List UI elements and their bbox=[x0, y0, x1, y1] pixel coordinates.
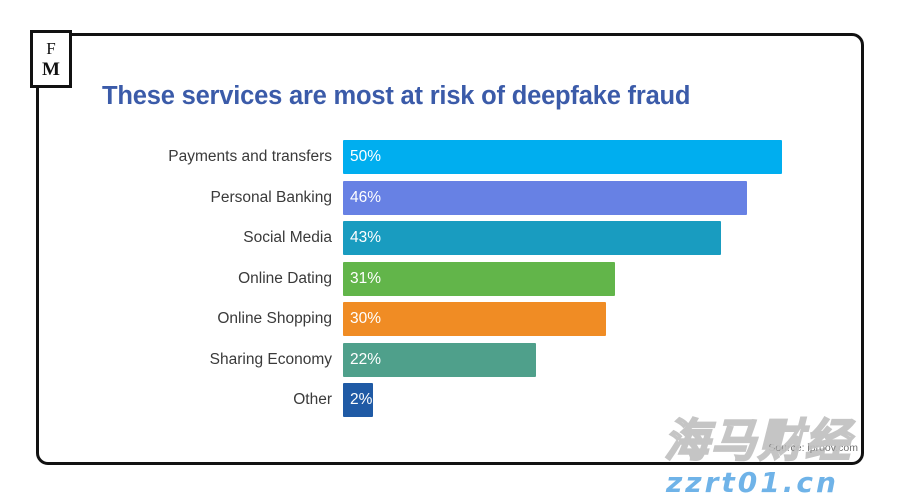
bar-row: Other2% bbox=[102, 383, 802, 417]
bar-category-label: Online Dating bbox=[102, 262, 332, 296]
bar-value-label: 22% bbox=[343, 352, 381, 368]
bar-value-label: 43% bbox=[343, 230, 381, 246]
bar-value-label: 2% bbox=[343, 392, 372, 408]
bar-track: 22% bbox=[343, 343, 536, 377]
bar[interactable]: 22% bbox=[343, 343, 536, 377]
bar-category-label: Personal Banking bbox=[102, 181, 332, 215]
bar-category-label: Online Shopping bbox=[102, 302, 332, 336]
bar[interactable]: 30% bbox=[343, 302, 606, 336]
bar-category-label: Social Media bbox=[102, 221, 332, 255]
bar-track: 31% bbox=[343, 262, 615, 296]
bar-row: Social Media43% bbox=[102, 221, 802, 255]
bar[interactable]: 31% bbox=[343, 262, 615, 296]
bar-category-label: Sharing Economy bbox=[102, 343, 332, 377]
bar-category-label: Payments and transfers bbox=[102, 140, 332, 174]
bar-row: Online Shopping30% bbox=[102, 302, 802, 336]
logo-letter-m: M bbox=[42, 60, 60, 79]
bar[interactable]: 43% bbox=[343, 221, 721, 255]
bar-value-label: 31% bbox=[343, 271, 381, 287]
bar-track: 30% bbox=[343, 302, 606, 336]
bar-value-label: 46% bbox=[343, 190, 381, 206]
bar-track: 50% bbox=[343, 140, 782, 174]
page-title: These services are most at risk of deepf… bbox=[102, 82, 690, 111]
bar-track: 46% bbox=[343, 181, 747, 215]
bar[interactable]: 46% bbox=[343, 181, 747, 215]
bar-category-label: Other bbox=[102, 383, 332, 417]
finance-magnates-logo: F M bbox=[30, 30, 72, 88]
bar-value-label: 50% bbox=[343, 149, 381, 165]
bar-row: Online Dating31% bbox=[102, 262, 802, 296]
logo-letter-f: F bbox=[46, 40, 55, 57]
source-attribution: Source: iproov.com bbox=[768, 442, 858, 454]
watermark-url: zzrt01.cn bbox=[666, 466, 839, 499]
bar-chart: Payments and transfers50%Personal Bankin… bbox=[102, 140, 802, 440]
bar-row: Sharing Economy22% bbox=[102, 343, 802, 377]
bar[interactable]: 50% bbox=[343, 140, 782, 174]
bar-track: 2% bbox=[343, 383, 373, 417]
bar-row: Payments and transfers50% bbox=[102, 140, 802, 174]
bar-value-label: 30% bbox=[343, 311, 381, 327]
bar-track: 43% bbox=[343, 221, 721, 255]
bar-row: Personal Banking46% bbox=[102, 181, 802, 215]
bar[interactable]: 2% bbox=[343, 383, 373, 417]
